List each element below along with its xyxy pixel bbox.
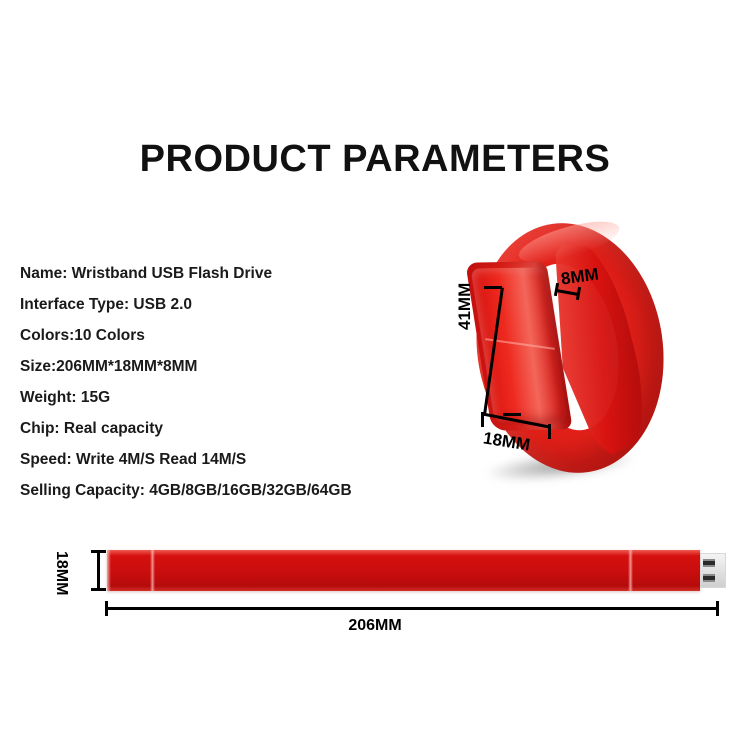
dim-18mm-flat-line — [97, 550, 100, 591]
dim-label-206mm: 206MM — [0, 617, 750, 635]
strap-seam-left — [150, 550, 155, 591]
usb-contact-pin-bottom — [703, 574, 715, 582]
dim-label-41mm: 41MM — [455, 283, 475, 330]
dim-206mm-cap-right — [716, 601, 719, 616]
spec-line-name: Name: Wristband USB Flash Drive — [20, 258, 440, 289]
strap-left-endcap — [107, 550, 111, 591]
dim-label-18mm-flat: 18MM — [52, 551, 70, 595]
dim-206mm-line — [105, 607, 719, 610]
strap-seam-right — [628, 550, 633, 591]
usb-contact-pin-top — [703, 559, 715, 567]
specification-list: Name: Wristband USB Flash Drive Interfac… — [20, 258, 440, 506]
spec-line-weight: Weight: 15G — [20, 382, 440, 413]
spec-line-selling-capacity: Selling Capacity: 4GB/8GB/16GB/32GB/64GB — [20, 475, 440, 506]
spec-line-size: Size:206MM*18MM*8MM — [20, 351, 440, 382]
dim-18mm-flat-cap-bottom — [91, 588, 106, 591]
product-parameters-page: PRODUCT PARAMETERS Name: Wristband USB F… — [0, 0, 750, 750]
spec-line-chip: Chip: Real capacity — [20, 413, 440, 444]
page-title: PRODUCT PARAMETERS — [0, 138, 750, 181]
dim-18mm-photo-cap-right — [548, 424, 551, 439]
dim-41mm-cap-bottom — [503, 413, 521, 416]
spec-line-speed: Speed: Write 4M/S Read 14M/S — [20, 444, 440, 475]
spec-line-interface-type: Interface Type: USB 2.0 — [20, 289, 440, 320]
flat-wristband-strap — [107, 550, 700, 591]
dim-41mm-cap-top — [484, 286, 502, 289]
spec-line-colors: Colors:10 Colors — [20, 320, 440, 351]
